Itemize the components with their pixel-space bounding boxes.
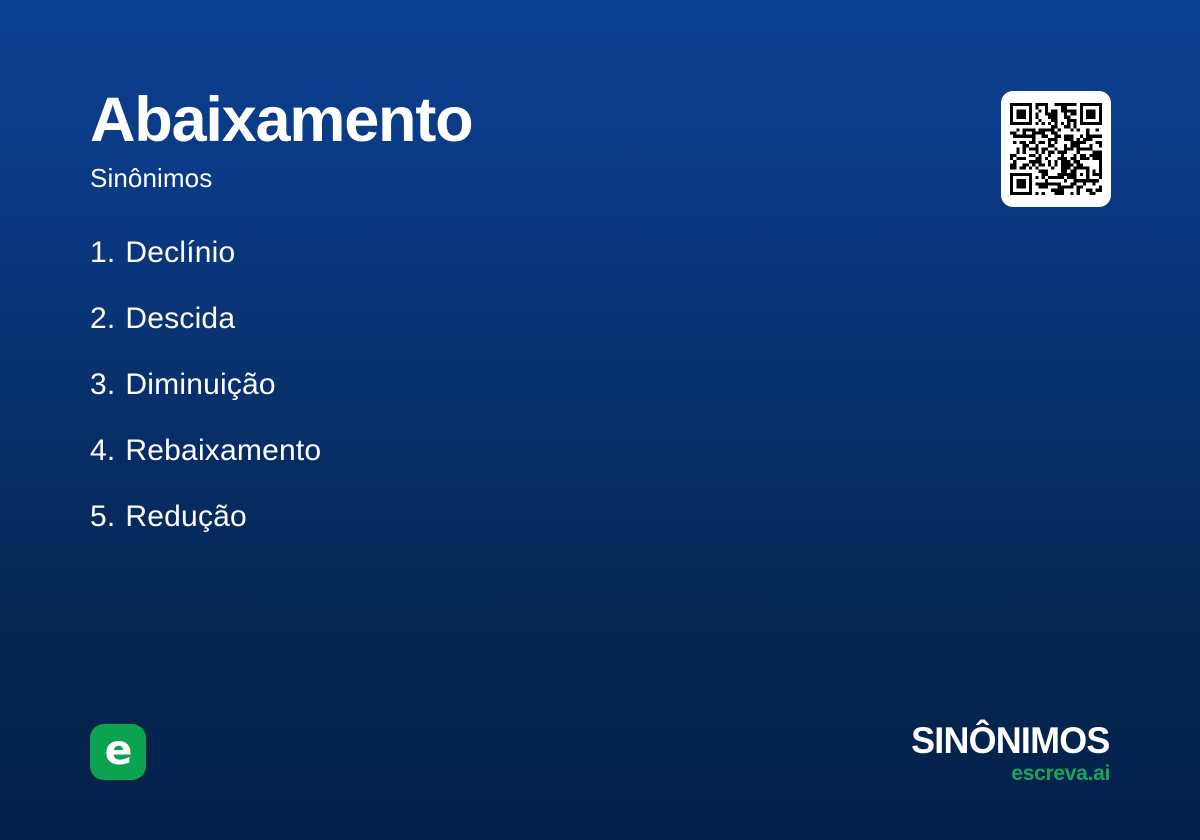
list-item-word: Descida — [125, 304, 235, 334]
list-item-word: Redução — [125, 502, 247, 532]
list-item-word: Diminuição — [125, 370, 275, 400]
list-item: 5. Redução — [90, 502, 790, 568]
list-item-word: Declínio — [125, 238, 235, 268]
escreva-badge-icon[interactable]: e — [90, 724, 146, 780]
brand-logo[interactable]: SINÔNIMOS escreva.ai — [905, 722, 1110, 784]
list-item: 4. Rebaixamento — [90, 436, 790, 502]
page-title: Abaixamento — [90, 88, 870, 152]
synonym-card: Abaixamento Sinônimos 1. Declínio 2. Des… — [0, 0, 1200, 840]
page-subtitle: Sinônimos — [90, 164, 870, 193]
list-item-index: 1. — [90, 238, 115, 268]
list-item: 2. Descida — [90, 304, 790, 370]
brand-tagline: escreva.ai — [905, 763, 1110, 784]
qr-code-icon[interactable] — [1010, 103, 1102, 195]
synonym-list: 1. Declínio 2. Descida 3. Diminuição 4. … — [90, 238, 790, 568]
headline-block: Abaixamento Sinônimos — [90, 88, 870, 193]
qr-code-container[interactable] — [1001, 91, 1111, 207]
list-item: 3. Diminuição — [90, 370, 790, 436]
brand-name: SINÔNIMOS — [912, 722, 1110, 759]
list-item-word: Rebaixamento — [125, 436, 321, 466]
list-item: 1. Declínio — [90, 238, 790, 304]
list-item-index: 2. — [90, 304, 115, 334]
list-item-index: 5. — [90, 502, 115, 532]
list-item-index: 4. — [90, 436, 115, 466]
escreva-badge-letter: e — [105, 730, 132, 771]
list-item-index: 3. — [90, 370, 115, 400]
